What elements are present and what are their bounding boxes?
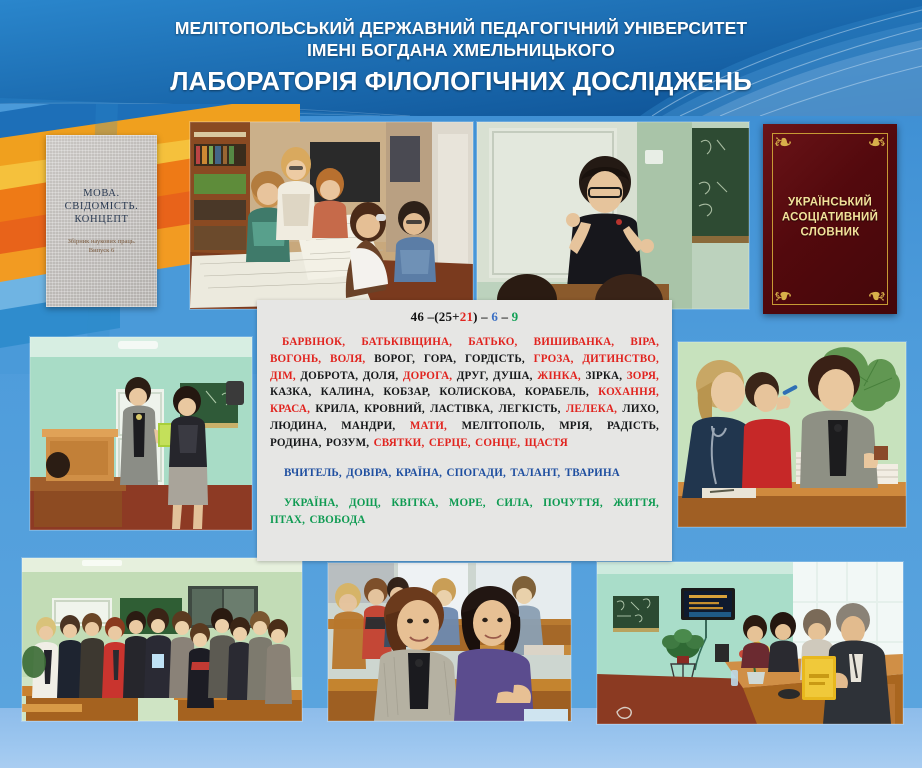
- formula-red-value: 21: [460, 309, 473, 324]
- word-item: СЕРЦЕ,: [429, 437, 471, 449]
- word-item: ЩАСТЯ: [525, 437, 568, 449]
- word-item: ТАЛАНТ,: [510, 467, 560, 479]
- header-line-patron: ІМЕНІ БОГДАНА ХМЕЛЬНИЦЬКОГО: [0, 39, 922, 61]
- word-item: СОНЦЕ,: [475, 437, 520, 449]
- book-right-title: УКРАЇНСЬКИЙ АСОЦІАТИВНИЙ СЛОВНИК: [763, 196, 897, 241]
- word-item: ДИТИНСТВО,: [582, 353, 659, 365]
- word-item: КРИЛА,: [315, 403, 358, 415]
- book-left-subtitle: Збірник наукових праць. Випуск 6: [68, 237, 136, 255]
- word-item: ВОРОГ,: [374, 353, 415, 365]
- word-item: МАНДРИ,: [341, 420, 395, 432]
- word-item: БАРВІНОК,: [282, 336, 345, 348]
- formula-green-value: 9: [512, 309, 519, 324]
- word-item: ГОРА,: [424, 353, 456, 365]
- word-item: КАЛИНА,: [321, 386, 374, 398]
- word-item: ДОЩ,: [349, 497, 381, 509]
- word-item: ДОЛЯ,: [363, 370, 399, 382]
- header-text-block: МЕЛІТОПОЛЬСЬКИЙ ДЕРЖАВНИЙ ПЕДАГОГІЧНИЙ У…: [0, 0, 922, 98]
- photo-group-table: [190, 122, 473, 309]
- header-line-university: МЕЛІТОПОЛЬСЬКИЙ ДЕРЖАВНИЙ ПЕДАГОГІЧНИЙ У…: [0, 17, 922, 39]
- word-group-blue: ВЧИТЕЛЬ, ДОВІРА, КРАЇНА, СПОГАДИ, ТАЛАНТ…: [270, 465, 659, 482]
- word-item: ВІРА,: [630, 336, 659, 348]
- word-item: ВИШИВАНКА,: [534, 336, 615, 348]
- word-item: ВОГОНЬ,: [270, 353, 321, 365]
- word-item: КРОВНИЙ,: [364, 403, 425, 415]
- header-line-laboratory: ЛАБОРАТОРІЯ ФІЛОЛОГІЧНИХ ДОСЛІДЖЕНЬ: [0, 64, 922, 98]
- word-item: ДРУГ,: [457, 370, 489, 382]
- header-banner: МЕЛІТОПОЛЬСЬКИЙ ДЕРЖАВНИЙ ПЕДАГОГІЧНИЙ У…: [0, 0, 922, 116]
- word-item: ПОЧУТТЯ,: [543, 497, 603, 509]
- word-item: ВОЛЯ,: [330, 353, 365, 365]
- word-item: КОРАБЕЛЬ,: [525, 386, 589, 398]
- word-item: СПОГАДИ,: [447, 467, 506, 479]
- word-item: ДІМ,: [270, 370, 296, 382]
- word-item: ЖІНКА,: [537, 370, 581, 382]
- word-item: ЛИХО,: [622, 403, 659, 415]
- word-item: ЛЕЛЕКА,: [566, 403, 617, 415]
- formula-blue-value: 6: [491, 309, 498, 324]
- word-item: ЛАСТІВКА,: [430, 403, 493, 415]
- book-cover-ukrainskyi-asotsiatyvnyi-slovnyk: ❧ ❧ ❧ ❧ УКРАЇНСЬКИЙ АСОЦІАТИВНИЙ СЛОВНИК: [763, 124, 897, 314]
- word-item: ДОБРОТА,: [300, 370, 358, 382]
- word-item: ЛЮДИНА,: [270, 420, 327, 432]
- word-item: ДОРОГА,: [403, 370, 452, 382]
- word-item: ГРОЗА,: [534, 353, 574, 365]
- word-item: БАТЬКІВЩИНА,: [361, 336, 452, 348]
- formula-line: 46 –(25+21) – 6 – 9: [270, 309, 659, 325]
- word-item: МРІЯ,: [559, 420, 592, 432]
- word-list-panel: 46 –(25+21) – 6 – 9 БАРВІНОК, БАТЬКІВЩИН…: [257, 300, 672, 561]
- word-item: УКРАЇНА,: [284, 497, 339, 509]
- word-item: РОЗУМ,: [326, 437, 369, 449]
- word-item: ТВАРИНА: [565, 467, 620, 479]
- word-item: ДОВІРА,: [346, 467, 391, 479]
- formula-part-2: ) –: [473, 309, 491, 324]
- word-item: ПТАХ,: [270, 514, 305, 526]
- word-item: КОБЗАР,: [383, 386, 430, 398]
- word-item: ЛЕГКІСТЬ,: [499, 403, 561, 415]
- word-item: МАТИ,: [410, 420, 447, 432]
- word-item: РАДІСТЬ,: [607, 420, 659, 432]
- word-item: ГОРДІСТЬ,: [465, 353, 525, 365]
- photo-seated-books: [678, 342, 906, 527]
- ornament-corner-icon: ❧: [864, 130, 890, 156]
- word-group-green: УКРАЇНА, ДОЩ, КВІТКА, МОРЕ, СИЛА, ПОЧУТТ…: [270, 495, 659, 529]
- word-item: КОЛИСКОВА,: [439, 386, 515, 398]
- word-item: БАТЬКО,: [468, 336, 517, 348]
- word-item: КОХАННЯ,: [598, 386, 659, 398]
- word-item: ДУША,: [493, 370, 533, 382]
- photo-podium: [30, 337, 252, 530]
- poster-root: МЕЛІТОПОЛЬСЬКИЙ ДЕРЖАВНИЙ ПЕДАГОГІЧНИЙ У…: [0, 0, 922, 768]
- word-item: МОРЕ,: [449, 497, 486, 509]
- word-item: СВОБОДА: [309, 514, 365, 526]
- word-item: КРАЇНА,: [396, 467, 442, 479]
- word-item: ЗОРЯ,: [627, 370, 659, 382]
- word-item: ЖИТТЯ,: [613, 497, 659, 509]
- formula-part-1: 46 –(25+: [411, 309, 460, 324]
- word-item: КРАСА,: [270, 403, 310, 415]
- word-item: КВІТКА,: [391, 497, 438, 509]
- photo-group-class: [22, 558, 302, 721]
- formula-part-3: –: [498, 309, 512, 324]
- word-item: СВЯТКИ,: [374, 437, 425, 449]
- word-item: МЕЛІТОПОЛЬ,: [462, 420, 545, 432]
- photo-conference: [597, 562, 903, 724]
- word-item: ЗІРКА,: [585, 370, 622, 382]
- ornament-corner-icon: ❧: [770, 130, 796, 156]
- photo-two-women: [328, 563, 571, 721]
- word-item: КАЗКА,: [270, 386, 311, 398]
- ornament-corner-icon: ❧: [864, 282, 890, 308]
- book-left-title: МОВА. СВІДОМІСТЬ. КОНЦЕПТ: [65, 187, 139, 226]
- word-item: ВЧИТЕЛЬ,: [284, 467, 342, 479]
- book-cover-mova-svidomist-kontsept: МОВА. СВІДОМІСТЬ. КОНЦЕПТ Збірник науков…: [46, 135, 157, 307]
- word-item: СИЛА,: [496, 497, 532, 509]
- word-group-main: БАРВІНОК, БАТЬКІВЩИНА, БАТЬКО, ВИШИВАНКА…: [270, 334, 659, 452]
- ornament-corner-icon: ❧: [770, 282, 796, 308]
- photo-lecturer: [477, 122, 749, 309]
- word-item: РОДИНА,: [270, 437, 322, 449]
